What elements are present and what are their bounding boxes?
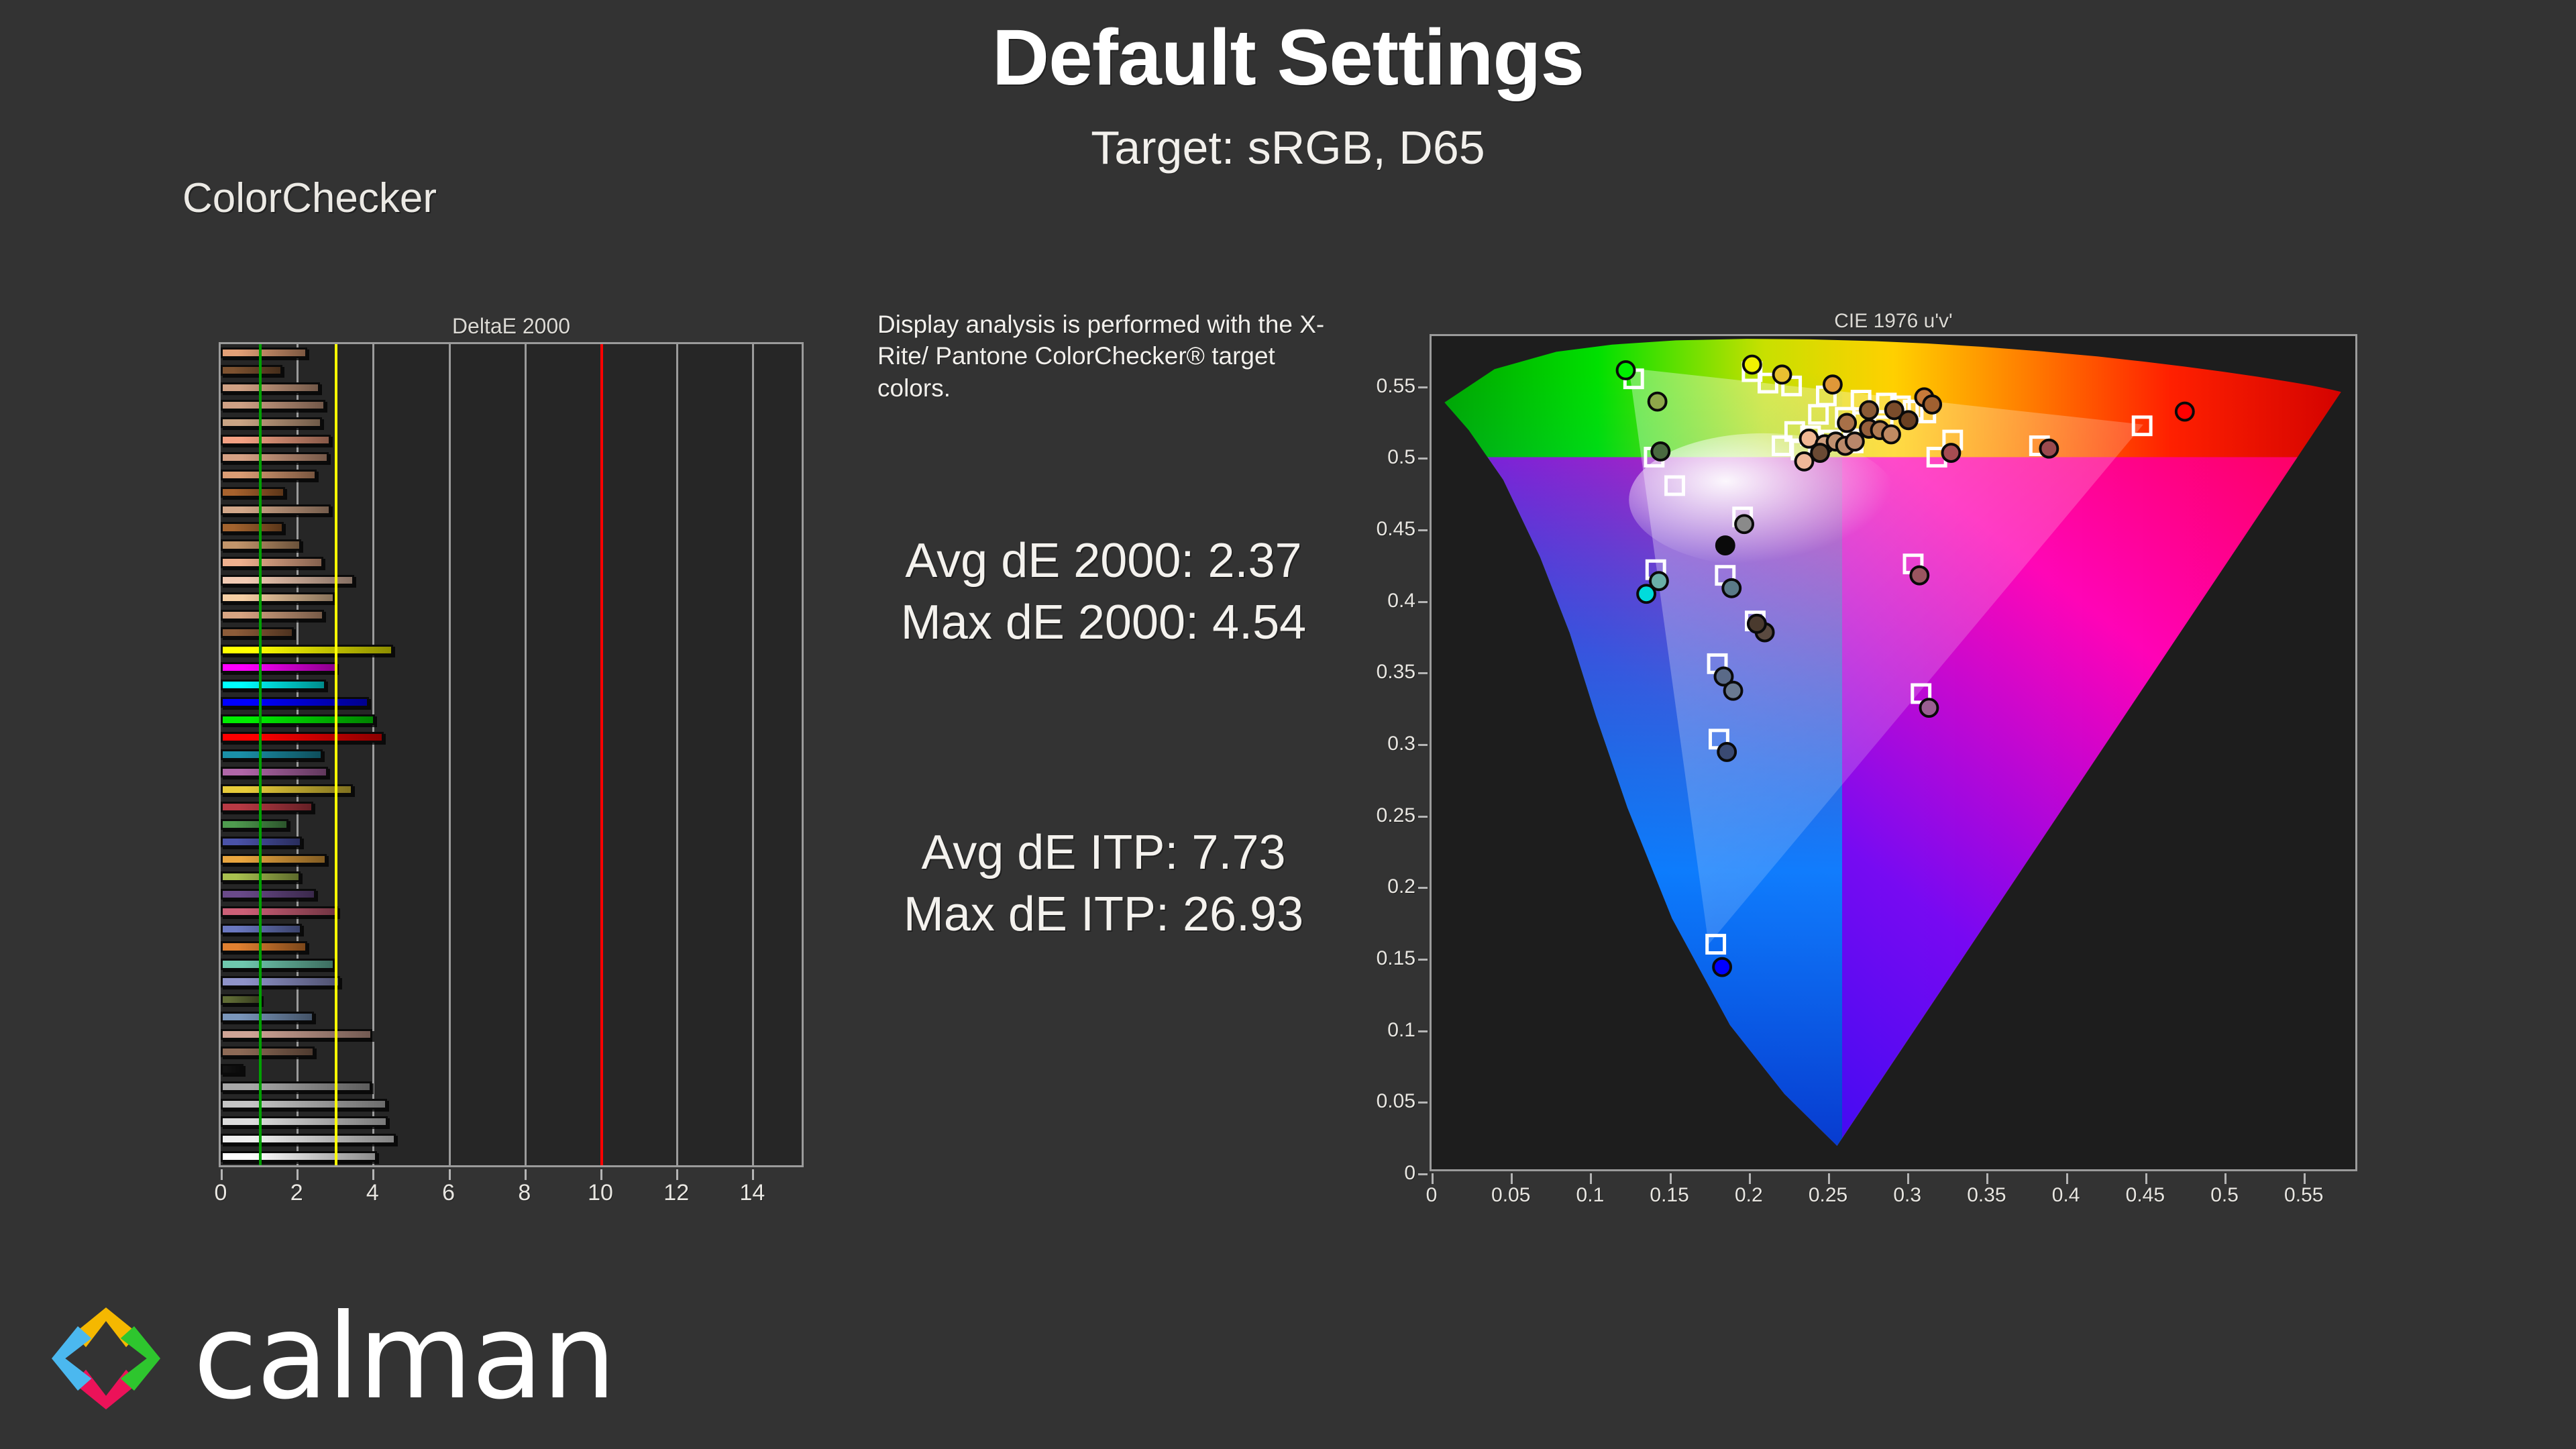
avg-de2000-value: Avg dE 2000: 2.37 [832,530,1375,592]
cie-y-tick [1418,744,1428,746]
cie-y-tick [1418,1102,1428,1104]
page-subtitle: Target: sRGB, D65 [0,121,2576,174]
calman-wordmark: calman [193,1289,615,1426]
cie-y-tick [1418,458,1428,460]
bar-row [221,784,802,795]
deltae-bar [221,1012,314,1022]
bar-row [221,1134,802,1144]
deltae-bar [221,1064,244,1075]
deltae-bar [221,994,262,1005]
deltae-bar [221,1046,315,1057]
cie-measurement-marker [1649,393,1666,411]
deltae-bar [221,941,307,952]
max-deitp-value: Max dE ITP: 26.93 [832,883,1375,945]
cie-x-tick [1670,1173,1672,1184]
deltae-bar [221,347,307,358]
cie-x-tick [2224,1173,2226,1184]
deltae-bar [221,959,335,969]
cie-x-label: 0.35 [1967,1184,2006,1207]
bar-axis-tick [676,1169,678,1180]
bar-chart-title: DeltaE 2000 [219,314,804,339]
deltae-bar [221,1151,377,1162]
cie-y-label: 0.5 [1387,446,1415,469]
deltae-bar [221,435,331,445]
bar-axis-label: 0 [215,1180,227,1206]
cie-x-label: 0.4 [2052,1184,2080,1207]
cie-y-tick [1418,1030,1428,1032]
cie-measurement-marker [1617,362,1635,379]
cie-x-label: 0.45 [2126,1184,2165,1207]
cie-measurement-marker [1723,580,1740,597]
analysis-description: Display analysis is performed with the X… [877,309,1347,404]
cie-y-label: 0.25 [1377,804,1415,827]
cie-measurement-marker [1923,396,1941,413]
deltae-bar [221,680,326,690]
cie-y-tick [1418,601,1428,603]
cie-y-label: 0.15 [1377,947,1415,970]
bar-axis-tick [372,1169,374,1180]
bar-row [221,924,802,934]
cie-x-tick [1907,1173,1909,1184]
deltae-bar [221,452,329,463]
bar-axis-label: 14 [739,1180,765,1206]
cie-y-label: 0.35 [1377,661,1415,684]
deltae-bar [221,627,294,638]
cie-x-label: 0 [1426,1184,1438,1207]
bar-row [221,837,802,847]
deltae-bar [221,522,284,533]
green-threshold [259,344,262,1165]
bar-row [221,539,802,550]
deltae-bar [221,610,324,621]
calman-logo: calman [39,1295,669,1422]
deltae-bar [221,1029,372,1040]
cie-x-label: 0.55 [2284,1184,2323,1207]
deltae-bar [221,470,317,480]
bar-axis-label: 4 [366,1180,379,1206]
bar-plot-area [219,342,804,1167]
cie-measurement-marker [1942,444,1960,462]
cie-x-tick [2066,1173,2068,1184]
cie-x-label: 0.3 [1893,1184,1921,1207]
bar-axis-label: 10 [588,1180,613,1206]
bar-row [221,610,802,621]
bar-row [221,1116,802,1127]
bar-row [221,854,802,865]
cie-x-tick [2145,1173,2147,1184]
de2000-stats: Avg dE 2000: 2.37 Max dE 2000: 4.54 [832,530,1375,653]
cie-x-label: 0.2 [1735,1184,1763,1207]
bar-row [221,487,802,498]
deltae-bar [221,592,335,603]
cie-measurement-marker [1774,366,1791,383]
cie-measurement-marker [1838,415,1856,432]
cie-y-tick [1418,1173,1428,1175]
bar-row [221,1151,802,1162]
colorchecker-heading: ColorChecker [182,174,437,222]
bar-row [221,417,802,428]
deltae-bar [221,697,369,708]
cie-y-label: 0.1 [1387,1019,1415,1042]
cie-plot-area [1430,334,2357,1171]
deltae-bar [221,1134,396,1144]
bar-row [221,906,802,917]
deltae-bar-chart: DeltaE 2000 [219,342,804,1167]
deltae-bar [221,365,282,376]
bar-row [221,575,802,586]
cie-measurement-marker [1748,615,1766,633]
bar-axis-tick [221,1169,223,1180]
deltae-bar [221,1099,387,1110]
cie-chart-title: CIE 1976 u'v' [1430,310,2357,333]
deltae-bar [221,487,285,498]
bar-row [221,365,802,376]
bar-axis-tick [449,1169,451,1180]
max-de2000-value: Max dE 2000: 4.54 [832,592,1375,653]
bar-row [221,819,802,830]
cie-1976-chart: CIE 1976 u'v' [1430,334,2357,1171]
bar-row [221,871,802,882]
cie-measurement-marker [1796,453,1813,470]
cie-x-tick [1590,1173,1592,1184]
bar-row [221,1081,802,1092]
bar-row [221,557,802,568]
cie-x-label: 0.1 [1576,1184,1605,1207]
cie-measurement-marker [1713,959,1731,976]
deltae-bar [221,906,338,917]
cie-x-tick [1432,1173,1434,1184]
cie-measurement-marker [1718,743,1735,761]
report-page: Default Settings Target: sRGB, D65 Color… [0,0,2576,1449]
cie-y-label: 0.4 [1387,590,1415,612]
cie-measurement-marker [1811,444,1829,462]
cie-x-label: 0.25 [1809,1184,1847,1207]
bar-row [221,976,802,987]
cie-measurement-marker [1846,433,1864,450]
cie-y-tick [1418,386,1428,388]
deltae-bar [221,557,323,568]
cie-y-tick [1418,887,1428,889]
bar-row [221,645,802,655]
deltae-bar [221,749,323,760]
cie-y-label: 0.05 [1377,1090,1415,1113]
bar-row [221,802,802,812]
deltae-bar [221,714,375,725]
deltae-bar [221,802,313,812]
avg-deitp-value: Avg dE ITP: 7.73 [832,822,1375,883]
cie-measurement-marker [2040,440,2057,458]
cie-y-tick [1418,816,1428,818]
bar-row [221,714,802,725]
cie-y-tick [1418,672,1428,674]
page-title: Default Settings [0,12,2576,103]
red-threshold [600,344,603,1165]
cie-y-label: 0.55 [1377,375,1415,398]
bar-row [221,1064,802,1075]
bar-row [221,1029,802,1040]
bar-axis-label: 6 [442,1180,455,1206]
bar-row [221,522,802,533]
cie-y-label: 0.45 [1377,518,1415,541]
cie-measurement-marker [1921,699,1938,716]
deltae-bar [221,662,337,673]
deltae-bar [221,819,288,830]
cie-measurement-marker [1743,356,1761,374]
bar-row [221,382,802,393]
cie-measurement-marker [1725,682,1742,700]
deltae-bar [221,889,316,900]
deltae-bar [221,1081,372,1092]
deltae-bar [221,504,331,515]
deltae-bar [221,400,325,411]
bar-row [221,470,802,480]
bar-row [221,347,802,358]
cie-measurement-marker [1911,567,1928,584]
cie-x-tick [1749,1173,1751,1184]
bar-row [221,627,802,638]
bar-row [221,1046,802,1057]
cie-y-label: 0.3 [1387,733,1415,755]
cie-y-tick [1418,529,1428,531]
bar-row [221,452,802,463]
cie-x-tick [2304,1173,2306,1184]
bar-axis-label: 8 [518,1180,531,1206]
bar-axis-label: 2 [290,1180,303,1206]
bar-row [221,749,802,760]
cie-y-label: 0.2 [1387,875,1415,898]
deltae-bar [221,382,320,393]
cie-diagram-svg [1432,336,2355,1169]
bar-axis-tick [297,1169,299,1180]
calman-diamond-icon [39,1295,173,1422]
cie-chart-y-axis: 00.050.10.150.20.250.30.350.40.450.50.55 [1348,334,1428,1171]
bar-row [221,435,802,445]
bar-row [221,504,802,515]
cie-x-tick [1511,1173,1513,1184]
cie-y-tick [1418,959,1428,961]
deltae-bar [221,417,322,428]
bar-row [221,697,802,708]
cie-measurement-marker [1735,515,1753,533]
cie-x-label: 0.05 [1491,1184,1530,1207]
deltae-bar [221,767,328,777]
cie-measurement-marker [1882,426,1900,443]
cie-measurement-marker [2176,403,2194,421]
bar-row [221,680,802,690]
bar-row [221,767,802,777]
cie-measurement-marker [1652,443,1669,460]
bar-axis-label: 12 [663,1180,689,1206]
bar-axis-tick [525,1169,527,1180]
cie-chart-x-axis: 00.050.10.150.20.250.30.350.40.450.50.55 [1430,1173,2357,1218]
deltae-bar [221,854,327,865]
deltae-bar [221,784,353,795]
cie-x-tick [1828,1173,1830,1184]
deltae-bar [221,732,384,743]
logo-chevron-blue [52,1326,91,1391]
cie-x-label: 0.15 [1650,1184,1688,1207]
bar-row [221,1012,802,1022]
bar-row [221,941,802,952]
deltae-bar [221,976,340,987]
bar-row [221,959,802,969]
yellow-threshold [335,344,337,1165]
bar-axis-tick [600,1169,602,1180]
bar-row [221,1099,802,1110]
cie-x-tick [1986,1173,1988,1184]
deltae-bar [221,1116,388,1127]
bar-row [221,732,802,743]
bar-row [221,400,802,411]
cie-measurement-marker [1860,401,1878,419]
cie-measurement-marker [1824,376,1841,393]
cie-measurement-marker [1638,585,1655,602]
deltae-bar [221,645,393,655]
cie-measurement-marker [1900,411,1917,429]
bar-row [221,889,802,900]
cie-measurement-marker [1717,537,1734,554]
bar-row [221,592,802,603]
deitp-stats: Avg dE ITP: 7.73 Max dE ITP: 26.93 [832,822,1375,945]
bar-chart-x-axis: 02468101214 [219,1169,804,1216]
cie-y-label: 0 [1404,1162,1415,1185]
logo-chevron-green [121,1326,160,1391]
bar-row [221,994,802,1005]
bar-row [221,662,802,673]
bar-axis-tick [752,1169,754,1180]
cie-x-label: 0.5 [2210,1184,2239,1207]
